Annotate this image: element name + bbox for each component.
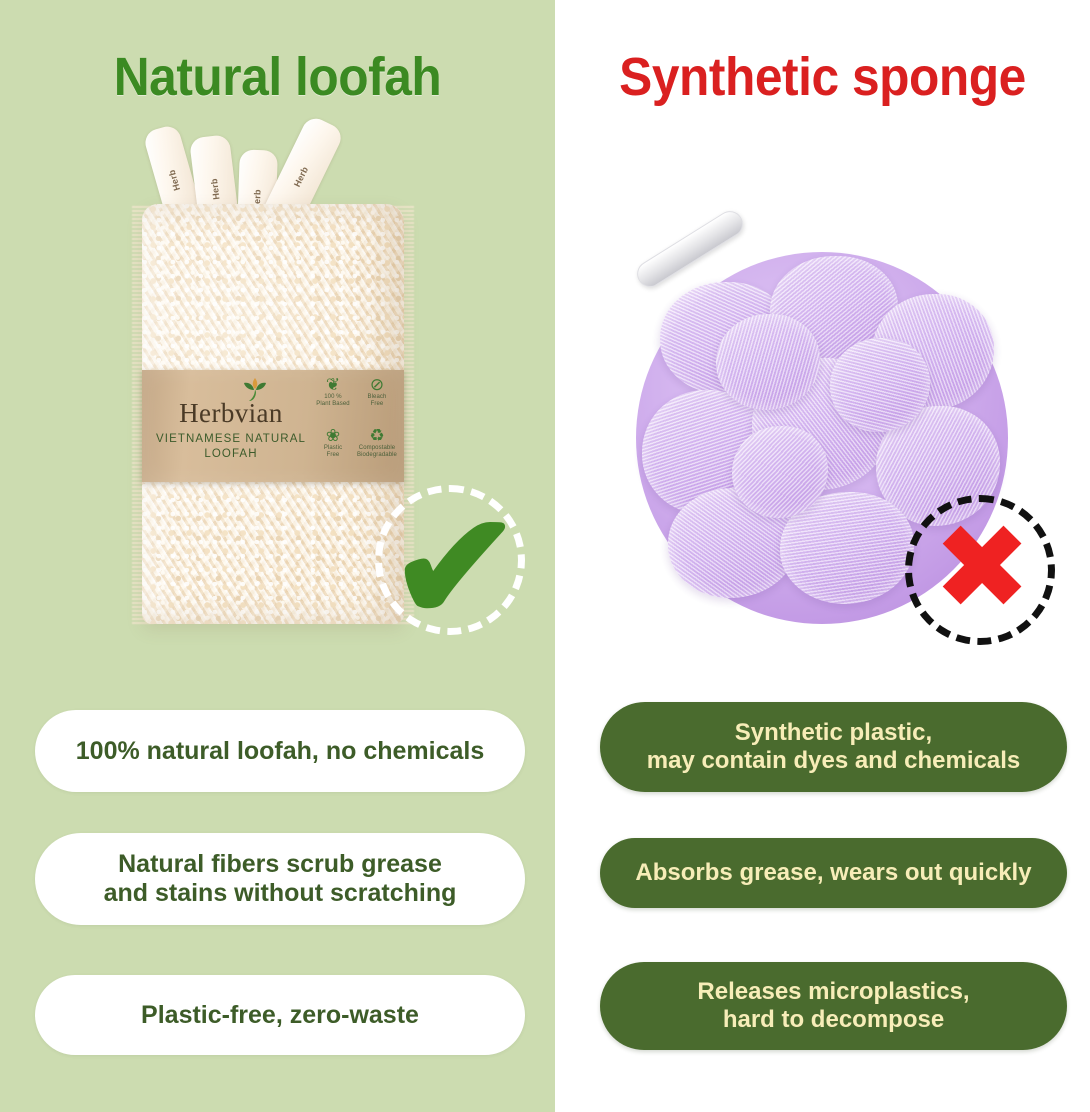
eco-badge-compostable-label: Compostable Biodegradable	[356, 445, 398, 459]
check-mark-icon: ✔	[376, 492, 534, 642]
eco-badge-plastic-free-label: Plastic Free	[312, 445, 354, 459]
eco-badge-plant-based: ❦ 100 % Plant Based	[312, 376, 354, 425]
eco-badge-bleach-free: ⊘ Bleach Free	[356, 376, 398, 425]
right-feature-pill-2: Absorbs grease, wears out quickly	[600, 838, 1067, 908]
eco-badge-compostable: ♻ Compostable Biodegradable	[356, 427, 398, 476]
brand-name: Herbvian	[142, 398, 320, 429]
eco-badge-plant-based-label: 100 % Plant Based	[312, 394, 354, 408]
left-panel-title: Natural loofah	[22, 46, 533, 108]
eco-badge-plastic-free: ❀ Plastic Free	[312, 427, 354, 476]
left-feature-pill-2: Natural fibers scrub grease and stains w…	[35, 833, 525, 925]
eco-badges-group: ❦ 100 % Plant Based ⊘ Bleach Free ❀ Plas…	[312, 376, 398, 476]
left-feature-pill-3: Plastic-free, zero-waste	[35, 975, 525, 1055]
left-feature-pill-1: 100% natural loofah, no chemicals	[35, 710, 525, 792]
recycle-icon: ♻	[356, 427, 398, 444]
right-feature-pill-1: Synthetic plastic, may contain dyes and …	[600, 702, 1067, 792]
bleach-free-icon: ⊘	[356, 376, 398, 393]
comparison-infographic: Natural loofah Synthetic sponge Herb Her…	[0, 0, 1090, 1112]
product-label-band: Herbvian VIETNAMESE NATURAL LOOFAH ❦ 100…	[142, 370, 404, 482]
product-subline: VIETNAMESE NATURAL LOOFAH	[142, 432, 320, 462]
right-panel-title: Synthetic sponge	[576, 46, 1068, 108]
cross-mark-icon: ✖	[912, 508, 1052, 626]
eco-badge-bleach-free-label: Bleach Free	[356, 394, 398, 408]
right-feature-pill-3: Releases microplastics, hard to decompos…	[600, 962, 1067, 1050]
leaves-icon: ❦	[312, 376, 354, 393]
plastic-free-globe-icon: ❀	[312, 427, 354, 444]
